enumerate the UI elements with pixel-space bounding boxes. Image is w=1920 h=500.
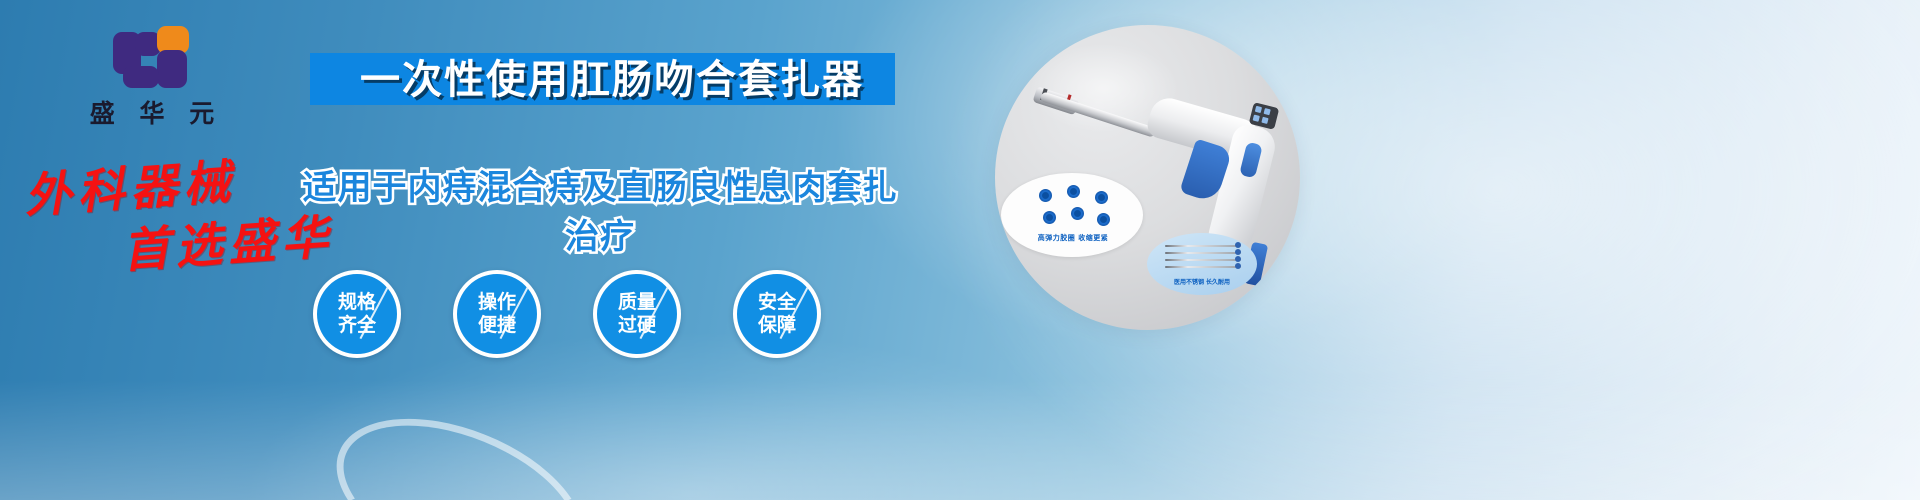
decorative-arc — [313, 386, 607, 500]
badge-line-1: 质量 — [618, 291, 656, 313]
product-photo: 高弹力胶圈 收缩更紧 医用不锈钢 长久耐用 — [995, 25, 1300, 330]
feature-badge-safety[interactable]: 安全 保障 — [733, 270, 821, 358]
badge-line-2: 保障 — [758, 314, 796, 336]
feature-badge-group: 规格 齐全 操作 便捷 质量 过硬 安全 保障 — [313, 270, 873, 362]
feature-badge-specs[interactable]: 规格 齐全 — [313, 270, 401, 358]
feature-badge-quality[interactable]: 质量 过硬 — [593, 270, 681, 358]
page-subtitle: 适用于内痔混合痔及直肠良性息肉套扎治疗 — [295, 160, 905, 258]
rubber-rings-caption: 高弹力胶圈 收缩更紧 — [1015, 233, 1131, 243]
badge-line-1: 安全 — [758, 291, 796, 313]
badge-line-2: 齐全 — [338, 314, 376, 336]
background-bottom-fade — [0, 380, 1920, 500]
page-title: 一次性使用肛肠吻合套扎器 — [332, 56, 892, 104]
feature-badge-operation[interactable]: 操作 便捷 — [453, 270, 541, 358]
badge-line-1: 规格 — [338, 291, 376, 313]
badge-line-2: 便捷 — [478, 314, 516, 336]
capsule-inset — [1203, 303, 1300, 330]
needles-inset: 医用不锈钢 长久耐用 — [1147, 233, 1257, 295]
rubber-rings-inset: 高弹力胶圈 收缩更紧 — [1001, 173, 1143, 257]
brand-logo[interactable]: 盛 华 元 — [62, 26, 242, 130]
shenghuayuan-logo-icon — [113, 26, 191, 88]
brand-name: 盛 华 元 — [62, 94, 242, 130]
slogan-line-2: 首选盛华 — [120, 198, 336, 282]
badge-line-2: 过硬 — [618, 314, 656, 336]
badge-line-1: 操作 — [478, 291, 516, 313]
needles-caption: 医用不锈钢 长久耐用 — [1153, 277, 1251, 286]
